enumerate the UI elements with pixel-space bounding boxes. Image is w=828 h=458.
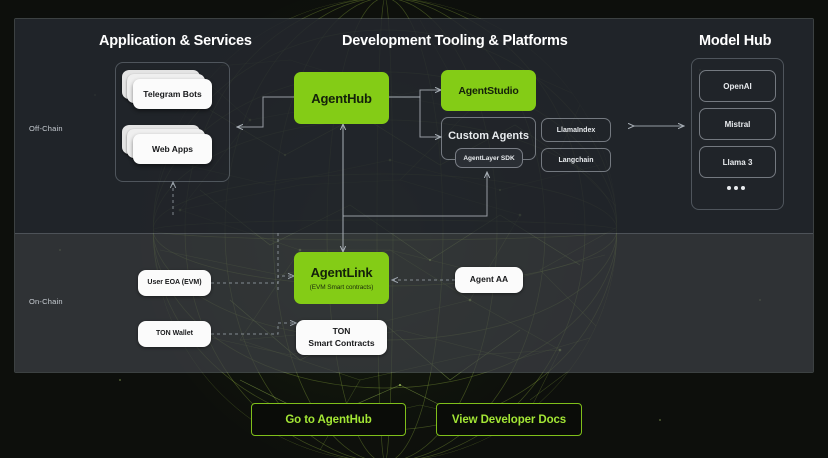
telegram-bots-card[interactable]: Telegram Bots [133,79,212,109]
ton-wallet-label: TON Wallet [156,328,193,340]
agent-link-title: AgentLink [311,265,373,280]
web-apps-label: Web Apps [152,144,193,154]
agent-studio-title: AgentStudio [458,85,518,97]
ton-smart-contracts-block[interactable]: TON Smart Contracts [296,320,387,355]
ton-smart-contracts-line1: TON [333,326,351,338]
agent-link-block[interactable]: AgentLink (EVM Smart contracts) [294,252,389,304]
model-mistral-block[interactable]: Mistral [699,108,776,140]
model-openai-block[interactable]: OpenAI [699,70,776,102]
ton-wallet-block[interactable]: TON Wallet [138,321,211,347]
agent-layer-sdk-label: AgentLayer SDK [463,155,514,162]
cta-button-row: Go to AgentHub View Developer Docs [251,403,582,436]
llamaindex-label: LlamaIndex [557,127,596,134]
agent-hub-block[interactable]: AgentHub [294,72,389,124]
telegram-bots-card-stack[interactable]: Telegram Bots [122,70,217,112]
on-chain-label: On-Chain [29,297,63,306]
view-developer-docs-button[interactable]: View Developer Docs [436,403,582,436]
heading-development-tooling: Development Tooling & Platforms [342,33,568,49]
on-chain-band [15,233,814,373]
agent-hub-title: AgentHub [311,91,372,106]
agent-link-subtitle: (EVM Smart contracts) [310,284,374,291]
more-models-icon [727,186,745,190]
llamaindex-block[interactable]: LlamaIndex [541,118,611,142]
model-llama3-label: Llama 3 [723,158,753,167]
user-eoa-label: User EOA (EVM) [147,277,201,289]
heading-application-services: Application & Services [99,33,252,49]
agent-studio-block[interactable]: AgentStudio [441,70,536,111]
go-to-agenthub-button[interactable]: Go to AgentHub [251,403,406,436]
web-apps-card[interactable]: Web Apps [133,134,212,164]
off-chain-label: Off-Chain [29,124,63,133]
langchain-block[interactable]: Langchain [541,148,611,172]
model-mistral-label: Mistral [725,120,751,129]
agent-aa-label: Agent AA [470,274,508,286]
telegram-bots-label: Telegram Bots [143,89,201,99]
user-eoa-block[interactable]: User EOA (EVM) [138,270,211,296]
langchain-label: Langchain [558,157,593,164]
model-llama3-block[interactable]: Llama 3 [699,146,776,178]
model-openai-label: OpenAI [723,82,751,91]
ton-smart-contracts-line2: Smart Contracts [308,338,374,350]
agent-layer-sdk-badge[interactable]: AgentLayer SDK [455,148,523,168]
web-apps-card-stack[interactable]: Web Apps [122,125,217,167]
heading-model-hub: Model Hub [699,33,771,49]
custom-agents-title: Custom Agents [448,130,529,142]
agent-aa-block[interactable]: Agent AA [455,267,523,293]
